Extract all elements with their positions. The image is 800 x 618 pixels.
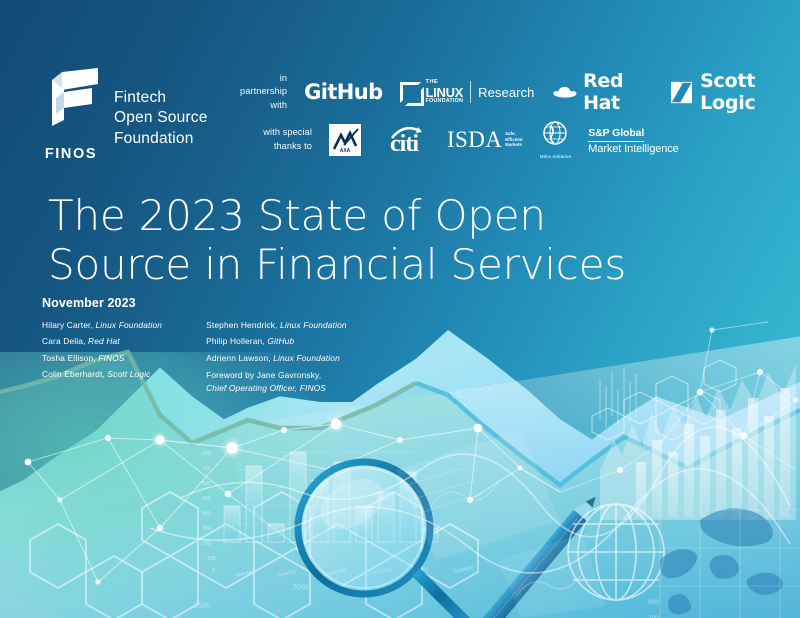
author-entry: Hilary Carter, Linux Foundation <box>42 320 162 332</box>
author-entry: Stephen Hendrick, Linux Foundation <box>206 320 347 332</box>
artwork-molecule-lattice <box>592 360 736 440</box>
finos-logo-lockup: FINOS Fintech Open Source Foundation <box>40 66 208 162</box>
artwork-hexagon-lattice <box>30 492 478 618</box>
svg-text:Monday: Monday <box>236 569 255 579</box>
artwork-area-chart-outline-right <box>416 383 800 485</box>
author-entry: Adrienn Lawson, Linux Foundation <box>206 353 347 365</box>
mitra-initiative-label: Mitra Initiative <box>540 154 572 159</box>
svg-text:400: 400 <box>202 511 211 517</box>
finos-name-line-1: Fintech <box>114 88 208 108</box>
author-affiliation: Linux Foundation <box>280 320 347 330</box>
linux-foundation-mark: THE LINUX FOUNDATION <box>400 80 464 105</box>
red-hat-logo: Red Hat <box>552 70 654 114</box>
report-cover: 800 700 600 500 400 300 200 100 0 Monday… <box>0 0 800 618</box>
svg-text:200: 200 <box>202 541 211 547</box>
artwork-network-graph <box>25 414 560 585</box>
special-thanks-caption-line-2: thanks to <box>248 140 312 153</box>
page-title-line-1: The 2023 State of Open <box>48 192 626 241</box>
authors-columns: Hilary Carter, Linux Foundation Cara Del… <box>42 320 347 394</box>
artwork-network-graph-right <box>520 322 799 492</box>
finos-name-line-2: Open Source <box>114 108 208 128</box>
author-affiliation: GitHub <box>267 336 294 346</box>
author-name: Stephen Hendrick, <box>206 320 280 330</box>
author-name: Cara Delia, <box>42 336 88 346</box>
artwork-bar-chart-right <box>600 364 796 520</box>
axa-logo: AXA <box>329 124 361 156</box>
linux-foundation-text: THE LINUX FOUNDATION <box>426 80 464 105</box>
isda-tagline: Safe, Efficient Markets <box>505 131 522 151</box>
linux-foundation-square-icon <box>400 82 421 103</box>
red-hat-fedora-icon <box>552 81 578 103</box>
author-affiliation: FINOS <box>98 353 124 363</box>
svg-text:Tuesday: Tuesday <box>277 568 297 579</box>
artwork-halftone-texture <box>452 378 538 436</box>
citi-logo: citi <box>378 125 430 155</box>
artwork-line-chart <box>150 427 790 573</box>
foreword-line-1: Foreword by Jane Gavronsky, <box>206 369 347 381</box>
mitra-initiative-logo: Mitra Initiative <box>540 120 572 159</box>
artwork-map-grid <box>640 480 800 618</box>
finos-wordmark: FINOS <box>40 146 102 162</box>
scott-logic-logo: Scott Logic <box>671 70 800 114</box>
isda-wordmark: ISDA <box>447 128 502 151</box>
github-logo: GitHub <box>304 80 382 104</box>
author-affiliation: Red Hat <box>88 336 120 346</box>
author-entry: Colin Eberhardt, Scott Logic <box>42 369 162 381</box>
svg-text:800: 800 <box>202 451 211 457</box>
linux-foundation-research-logo: THE LINUX FOUNDATION Research <box>400 80 535 105</box>
artwork-candlestick-chart <box>600 368 636 428</box>
lf-divider <box>470 81 471 103</box>
svg-text:600: 600 <box>202 481 211 487</box>
authors-column-right: Stephen Hendrick, Linux Foundation Phili… <box>206 320 347 394</box>
author-name: Adrienn Lawson, <box>206 353 273 363</box>
finos-name-line-3: Foundation <box>114 129 208 149</box>
author-entry: Tosha Ellison, FINOS <box>42 353 162 365</box>
special-thanks-caption-line-1: with special <box>248 126 312 139</box>
svg-text:500: 500 <box>202 496 211 502</box>
lf-foundation: FOUNDATION <box>426 99 464 104</box>
author-entry: Philip Holleran, GitHub <box>206 336 347 348</box>
artwork-magnifier <box>298 462 470 618</box>
scott-logic-wordmark: Scott Logic <box>700 70 800 114</box>
special-thanks-caption: with special thanks to <box>248 126 312 153</box>
byline-block: November 2023 Hilary Carter, Linux Found… <box>42 296 347 394</box>
author-affiliation: Linux Foundation <box>95 320 162 330</box>
svg-text:300: 300 <box>202 526 211 532</box>
lf-linux: LINUX <box>426 86 464 99</box>
svg-text:Saturday: Saturday <box>453 564 474 575</box>
author-name: Hilary Carter, <box>42 320 95 330</box>
artwork-world-map <box>660 508 783 614</box>
partner-row-partnership: in partnership with GitHub THE LINUX FOU… <box>232 70 800 114</box>
artwork-map-axis-labels: 800 700 <box>648 599 659 618</box>
finos-logo-mark: FINOS <box>40 66 102 162</box>
author-name: Philip Holleran, <box>206 336 267 346</box>
sp-global-bottom: Market Intelligence <box>588 143 678 156</box>
artwork-pencil <box>477 491 602 618</box>
lf-research-label: Research <box>478 85 534 100</box>
isda-logo: ISDA Safe, Efficient Markets <box>447 128 523 151</box>
partner-row-special-thanks: with special thanks to AXA citi ISDA <box>248 120 679 159</box>
svg-text:70%: 70% <box>292 583 308 592</box>
finos-full-name: Fintech Open Source Foundation <box>114 66 208 149</box>
svg-text:800: 800 <box>648 599 659 606</box>
author-affiliation: Scott Logic <box>107 369 150 379</box>
svg-text:700: 700 <box>202 466 211 472</box>
partnership-caption: in partnership with <box>232 72 287 112</box>
mitra-globe-icon <box>541 120 569 148</box>
artwork-bar-chart-left: 800 700 600 500 400 300 200 100 0 Monday… <box>202 451 475 618</box>
axa-mark-icon: AXA <box>330 125 360 155</box>
isda-tagline-line-3: Markets <box>505 142 522 148</box>
svg-text:Friday: Friday <box>414 566 429 575</box>
artwork-documents <box>396 430 606 618</box>
publication-date: November 2023 <box>42 296 347 310</box>
svg-text:Wednesday: Wednesday <box>320 567 347 579</box>
author-name: Tosha Ellison, <box>42 353 98 363</box>
artwork-percent-labels: 35% 70% <box>194 583 308 610</box>
svg-text:AXA: AXA <box>340 148 351 154</box>
author-name: Colin Eberhardt, <box>42 369 107 379</box>
svg-text:35%: 35% <box>194 601 210 610</box>
citi-wordmark: citi <box>378 132 430 156</box>
authors-column-left: Hilary Carter, Linux Foundation Cara Del… <box>42 320 162 394</box>
foreword-line-2: Chief Operating Officer, FINOS <box>206 383 326 393</box>
sp-global-top: S&P Global <box>588 127 644 142</box>
sp-global-logo: S&P Global Market Intelligence <box>588 122 678 157</box>
partnership-caption-line-1: in partnership <box>232 72 287 99</box>
svg-text:Thursday: Thursday <box>371 566 393 577</box>
red-hat-wordmark: Red Hat <box>583 70 654 114</box>
author-affiliation: Linux Foundation <box>273 353 340 363</box>
svg-text:100: 100 <box>207 556 216 562</box>
scott-logic-mark-icon <box>671 80 692 105</box>
page-title-line-2: Source in Financial Services <box>48 241 626 290</box>
foreword-credit: Foreword by Jane Gavronsky, Chief Operat… <box>206 369 347 394</box>
svg-text:0: 0 <box>212 568 215 574</box>
page-title: The 2023 State of Open Source in Financi… <box>48 192 626 289</box>
artwork-globe-wireframe <box>568 504 664 600</box>
author-entry: Cara Delia, Red Hat <box>42 336 162 348</box>
partnership-caption-line-2: with <box>232 99 287 112</box>
